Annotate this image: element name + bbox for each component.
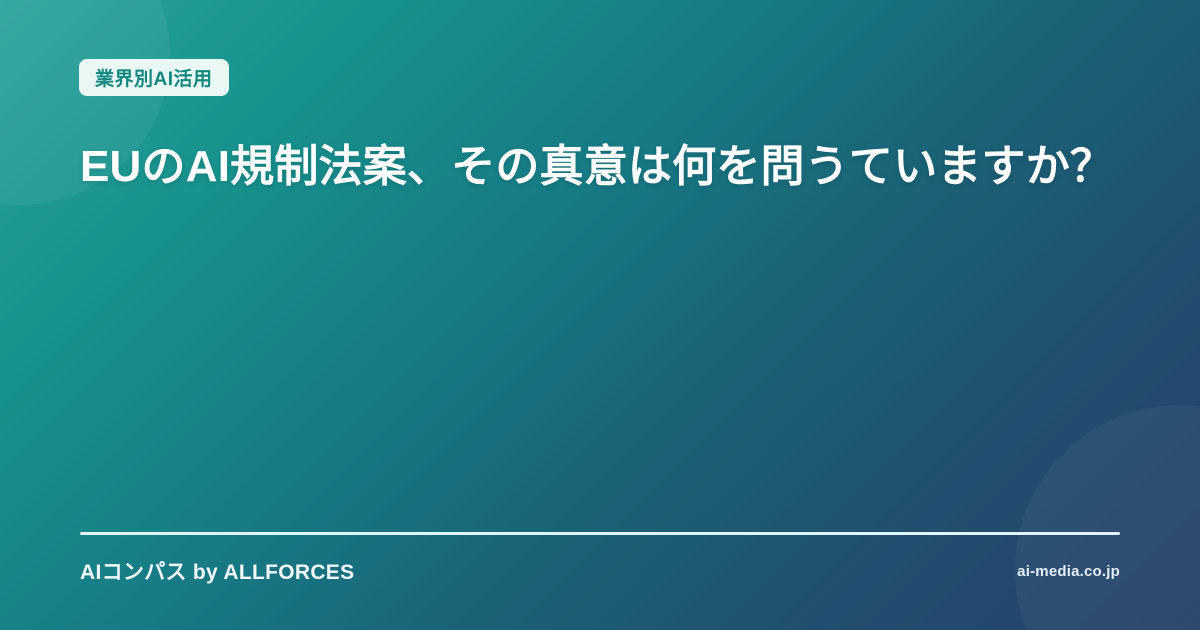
card-content: 業界別AI活用 EUのAI規制法案、その真意は何を問うていますか？ AIコンパス… (0, 0, 1200, 630)
page-title: EUのAI規制法案、その真意は何を問うていますか？ (80, 138, 1130, 196)
footer-brand-label: AIコンパス by ALLFORCES (80, 556, 354, 586)
footer-divider (80, 532, 1120, 535)
og-card: 業界別AI活用 EUのAI規制法案、その真意は何を問うていますか？ AIコンパス… (0, 0, 1200, 630)
footer-site-url: ai-media.co.jp (1017, 563, 1120, 580)
category-badge: 業界別AI活用 (79, 59, 229, 96)
footer: AIコンパス by ALLFORCES ai-media.co.jp (80, 556, 1120, 586)
